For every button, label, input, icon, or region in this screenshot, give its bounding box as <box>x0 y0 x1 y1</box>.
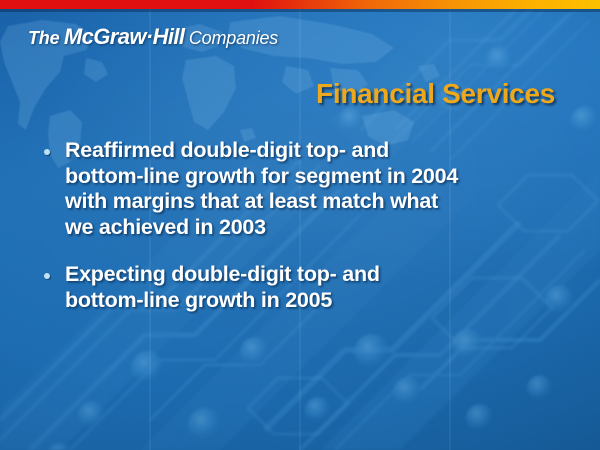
bullet-dot-icon <box>44 149 50 155</box>
slide: The McGraw·Hill Companies Financial Serv… <box>0 0 600 450</box>
mcgraw-hill-logo: The McGraw·Hill Companies <box>28 26 278 48</box>
logo-word-the: The <box>28 28 59 48</box>
slide-title: Financial Services <box>0 78 555 110</box>
bullet-item-text: Expecting double-digit top- and bottom-l… <box>65 262 584 313</box>
bullet-item: Reaffirmed double-digit top- and bottom-… <box>44 138 584 240</box>
accent-bar <box>0 0 600 9</box>
slide-content: The McGraw·Hill Companies Financial Serv… <box>0 0 600 450</box>
bullet-dot-icon <box>44 273 50 279</box>
bullet-item-text: Reaffirmed double-digit top- and bottom-… <box>65 138 584 240</box>
logo-word-mcgraw-hill: McGraw·Hill <box>64 24 185 49</box>
bullet-item: Expecting double-digit top- and bottom-l… <box>44 262 584 313</box>
bullet-list: Reaffirmed double-digit top- and bottom-… <box>44 138 584 335</box>
accent-bar-shadow <box>0 9 600 12</box>
logo-word-companies: Companies <box>189 28 278 48</box>
